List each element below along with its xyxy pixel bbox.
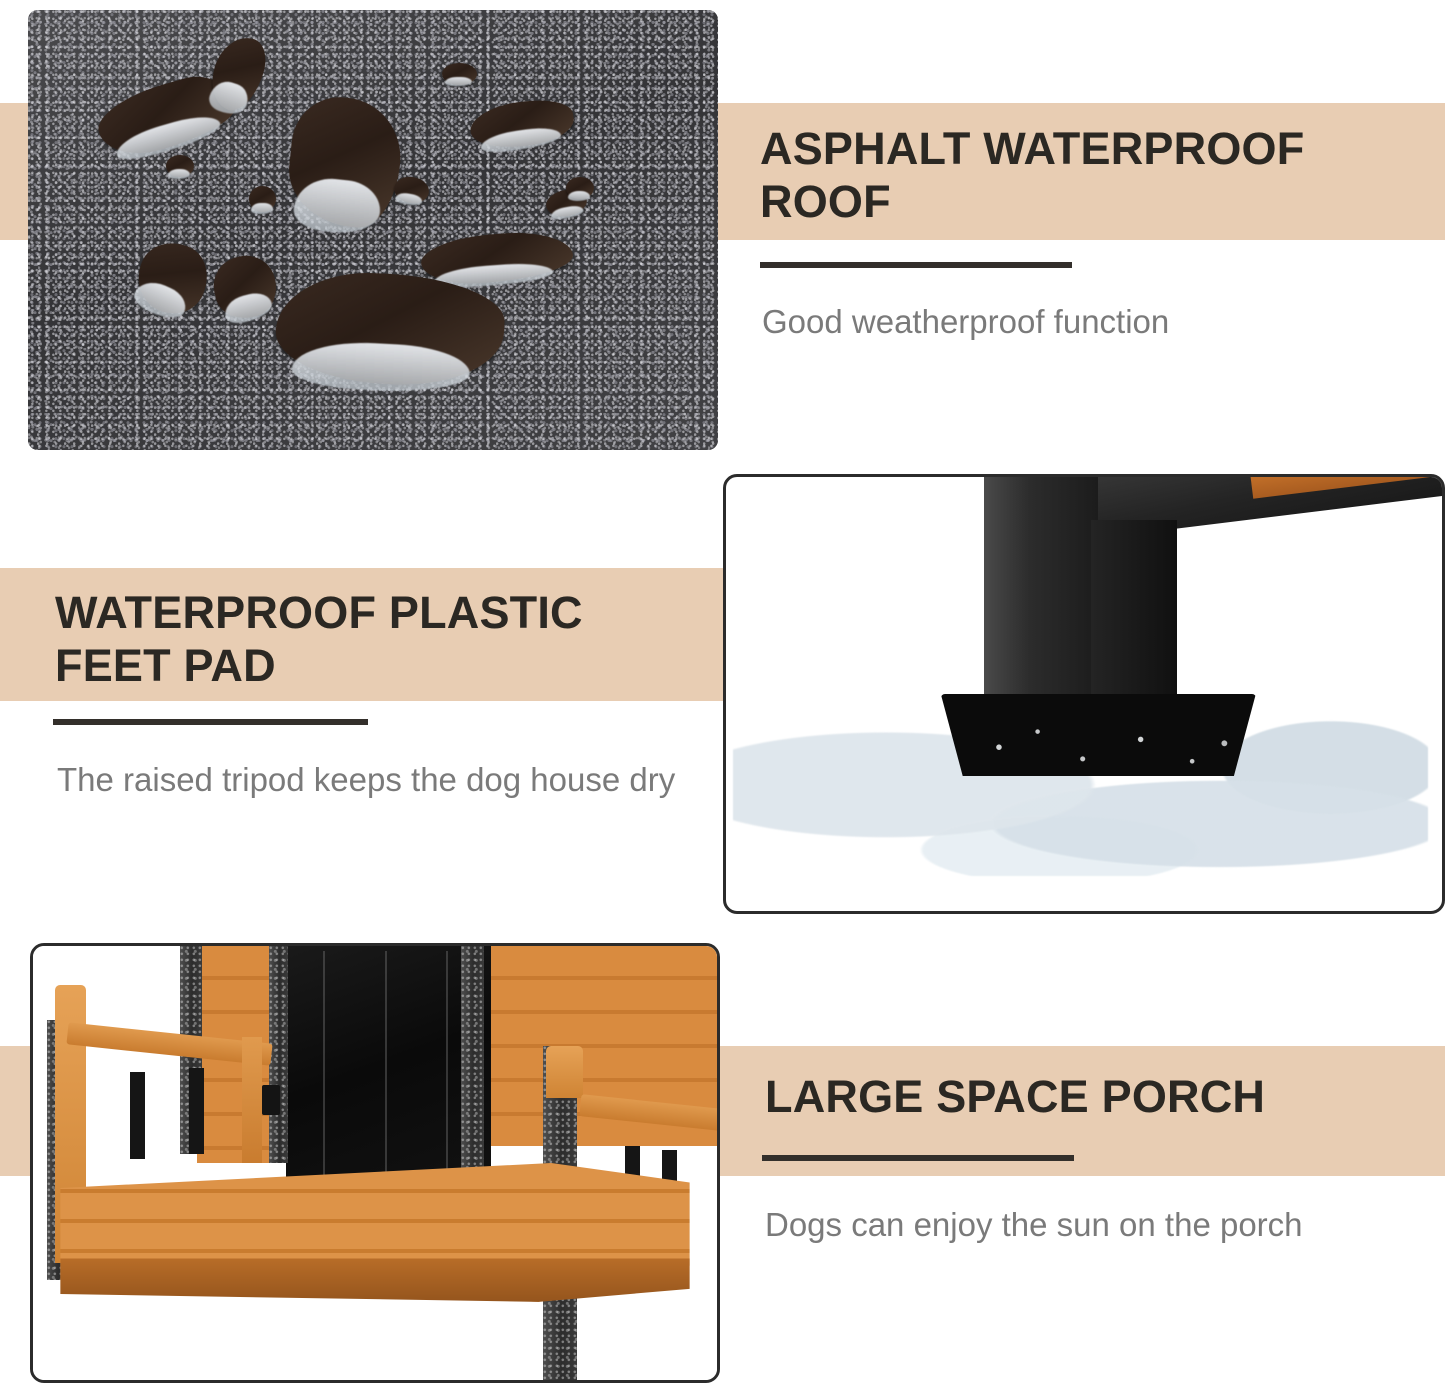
porch-photo — [30, 943, 720, 1383]
feature-subtext-roof: Good weatherproof function — [762, 300, 1402, 344]
water-droplet — [566, 177, 594, 199]
feature-heading-porch: LARGE SPACE PORCH — [765, 1070, 1405, 1123]
heading-underline-feet-pad — [53, 719, 368, 725]
railing-post-cap-right — [546, 1046, 583, 1098]
feature-subtext-porch: Dogs can enjoy the sun on the porch — [765, 1203, 1405, 1247]
corner-post-dark — [269, 946, 288, 1163]
heading-underline-porch — [762, 1155, 1074, 1161]
feature-subtext-feet-pad: The raised tripod keeps the dog house dr… — [57, 758, 697, 802]
door-frame-strip — [385, 951, 387, 1176]
door-latch-icon — [262, 1085, 280, 1115]
porch-deck-edge — [60, 1258, 689, 1301]
corner-post-dark — [461, 946, 484, 1176]
heading-underline-roof — [760, 262, 1072, 268]
asphalt-roof-photo — [28, 10, 718, 450]
railing-upright-left — [242, 1037, 263, 1163]
water-splash — [941, 716, 1263, 794]
water-droplet — [442, 63, 477, 85]
feet-pad-photo — [723, 474, 1445, 914]
water-droplet — [249, 186, 277, 212]
product-feature-infographic: ASPHALT WATERPROOF ROOF Good weatherproo… — [0, 0, 1445, 1388]
feature-heading-feet-pad: WATERPROOF PLASTIC FEET PAD — [55, 586, 695, 692]
water-droplet — [166, 155, 194, 177]
door-frame-strip — [446, 951, 448, 1176]
door-frame-strip — [323, 951, 325, 1176]
feature-heading-roof: ASPHALT WATERPROOF ROOF — [760, 122, 1400, 228]
railing-baluster — [130, 1072, 145, 1159]
railing-baluster — [189, 1068, 204, 1155]
